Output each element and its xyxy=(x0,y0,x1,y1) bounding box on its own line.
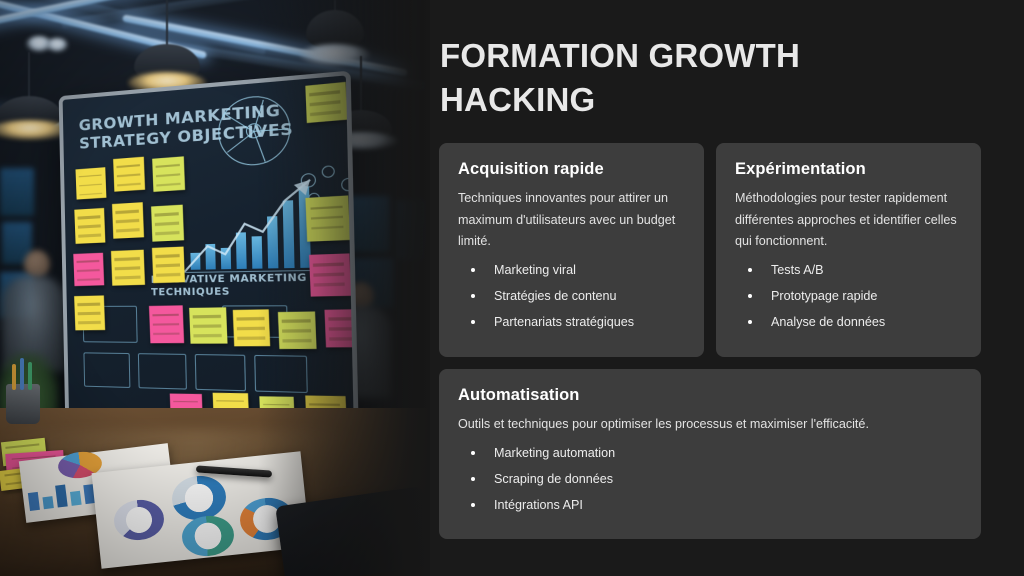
card-title: Automatisation xyxy=(458,386,962,405)
strategy-board: GROWTH MARKETING STRATEGY OBJECTIVES INN… xyxy=(59,71,359,440)
board-sticky-note xyxy=(152,156,185,192)
board-mini-chart xyxy=(83,352,130,388)
list-item: Prototypage rapide xyxy=(735,288,962,305)
board-sticky-note xyxy=(233,309,270,346)
board-sticky-note xyxy=(113,157,145,192)
pendant-cord xyxy=(166,0,168,48)
background-monitor xyxy=(0,168,34,216)
board-sticky-note xyxy=(111,250,145,286)
list-item: Analyse de données xyxy=(735,314,962,331)
board-sticky-note xyxy=(74,295,105,330)
list-item: Intégrations API xyxy=(458,497,962,514)
board-sticky-note xyxy=(112,202,144,239)
card-bullet-list: Marketing viral Stratégies de contenu Pa… xyxy=(458,262,685,331)
pencil xyxy=(12,364,16,390)
card-description: Outils et techniques pour optimiser les … xyxy=(458,414,962,436)
pencil-cup xyxy=(6,384,40,424)
card-description: Techniques innovantes pour attirer un ma… xyxy=(458,188,685,253)
background-monitor xyxy=(396,200,430,260)
board-mini-chart xyxy=(138,353,187,389)
board-sticky-note xyxy=(152,247,185,284)
board-sticky-note xyxy=(324,309,357,347)
hero-photo: GROWTH MARKETING STRATEGY OBJECTIVES INN… xyxy=(0,0,430,576)
card-bullet-list: Marketing automation Scraping de données… xyxy=(458,445,962,514)
list-item: Tests A/B xyxy=(735,262,962,279)
board-mini-chart xyxy=(254,355,308,393)
board-sticky-note xyxy=(305,195,350,241)
board-sticky-note xyxy=(74,208,105,244)
list-item: Marketing viral xyxy=(458,262,685,279)
board-sticky-note xyxy=(149,305,184,343)
pencil xyxy=(28,362,32,390)
board-sticky-note xyxy=(189,307,227,343)
pendant-cord xyxy=(360,56,362,114)
content-panel: FORMATION GROWTH HACKING Acquisition rap… xyxy=(430,0,1024,576)
board-sticky-note xyxy=(309,253,351,296)
pencil xyxy=(20,358,24,390)
card-bullet-list: Tests A/B Prototypage rapide Analyse de … xyxy=(735,262,962,331)
board-sticky-note xyxy=(305,82,347,123)
board-trend-arrow xyxy=(178,170,326,278)
list-item: Marketing automation xyxy=(458,445,962,462)
list-item: Scraping de données xyxy=(458,471,962,488)
board-sticky-note xyxy=(278,311,317,349)
ceiling-spot-light xyxy=(46,38,68,52)
card-experimentation[interactable]: Expérimentation Méthodologies pour teste… xyxy=(716,143,981,357)
slide-root: GROWTH MARKETING STRATEGY OBJECTIVES INN… xyxy=(0,0,1024,576)
list-item: Partenariats stratégiques xyxy=(458,314,685,331)
card-title: Acquisition rapide xyxy=(458,160,685,179)
board-sticky-note xyxy=(73,253,104,286)
card-automatisation[interactable]: Automatisation Outils et techniques pour… xyxy=(439,369,981,539)
list-item: Stratégies de contenu xyxy=(458,288,685,305)
cards-container: Acquisition rapide Techniques innovantes… xyxy=(439,143,981,539)
card-title: Expérimentation xyxy=(735,160,962,179)
board-sticky-note xyxy=(75,167,106,199)
card-description: Méthodologies pour tester rapidement dif… xyxy=(735,188,962,253)
board-sticky-note xyxy=(151,205,184,242)
pendant-cord xyxy=(28,52,30,102)
board-mini-chart xyxy=(195,354,246,391)
page-title: FORMATION GROWTH HACKING xyxy=(440,34,870,122)
board-heading-techniques: TECHNIQUES xyxy=(151,286,230,298)
cards-top-row: Acquisition rapide Techniques innovantes… xyxy=(439,143,981,357)
background-person xyxy=(24,250,50,278)
card-acquisition-rapide[interactable]: Acquisition rapide Techniques innovantes… xyxy=(439,143,704,357)
